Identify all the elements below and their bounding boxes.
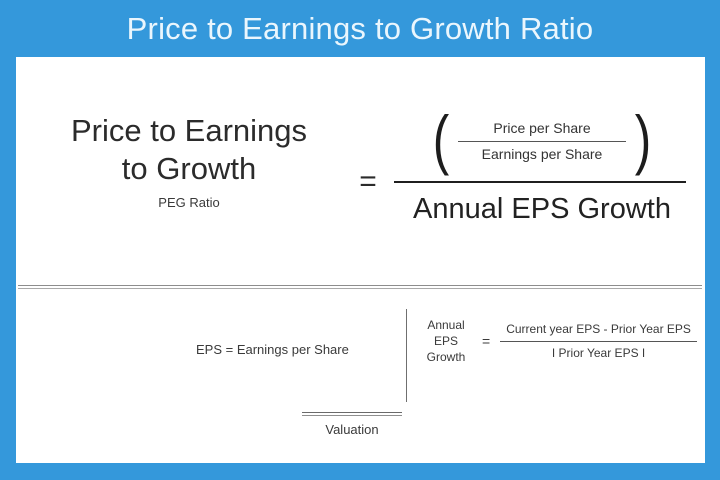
- outer-numerator: ( Price per Share Earnings per Share ): [394, 101, 690, 181]
- inner-numerator-text: Price per Share: [483, 120, 600, 136]
- valuation-block: Valuation: [302, 412, 402, 438]
- growth-definition: Annual EPS Growth = Current year EPS - P…: [420, 317, 697, 365]
- page-title: Price to Earnings to Growth Ratio: [127, 13, 594, 44]
- outer-denominator-text: Annual EPS Growth: [394, 183, 690, 226]
- growth-label-line3: Growth: [420, 349, 472, 365]
- formula-left-line2: to Growth: [44, 150, 334, 188]
- infographic-canvas: Price to Earnings to Growth Ratio Price …: [0, 0, 720, 480]
- inner-fraction: Price per Share Earnings per Share: [458, 119, 626, 164]
- open-paren-glyph: (: [433, 106, 449, 172]
- definitions-section: EPS = Earnings per Share Annual EPS Grow…: [16, 297, 705, 402]
- growth-fraction-bar: [500, 341, 697, 342]
- growth-denominator-text: I Prior Year EPS I: [500, 345, 697, 362]
- inner-denominator-text: Earnings per Share: [472, 146, 613, 162]
- formula-left-label: Price to Earnings to Growth PEG Ratio: [44, 112, 334, 210]
- valuation-label: Valuation: [302, 416, 402, 438]
- growth-fraction: Current year EPS - Prior Year EPS I Prio…: [500, 321, 697, 362]
- inner-fraction-bar: [458, 141, 626, 142]
- growth-label: Annual EPS Growth: [420, 317, 472, 365]
- main-formula: Price to Earnings to Growth PEG Ratio = …: [16, 57, 705, 282]
- growth-numerator-text: Current year EPS - Prior Year EPS: [500, 321, 697, 338]
- growth-label-line1: Annual: [420, 317, 472, 333]
- peg-ratio-subtitle: PEG Ratio: [44, 195, 334, 210]
- close-paren-glyph: ): [635, 106, 651, 172]
- section-divider: [18, 285, 702, 290]
- eps-definition: EPS = Earnings per Share: [196, 342, 349, 358]
- divider-rule-top: [18, 285, 702, 286]
- content-panel: Price to Earnings to Growth PEG Ratio = …: [16, 57, 705, 463]
- formula-left-line1: Price to Earnings: [44, 112, 334, 150]
- growth-label-line2: EPS: [420, 333, 472, 349]
- vertical-separator: [406, 309, 407, 402]
- formula-right-fraction: ( Price per Share Earnings per Share ) A…: [394, 101, 690, 226]
- valuation-rule-top: [302, 412, 402, 413]
- main-equals-sign: =: [348, 167, 388, 197]
- title-banner: Price to Earnings to Growth Ratio: [0, 0, 720, 57]
- divider-rule-bottom: [18, 288, 702, 289]
- growth-equals-sign: =: [472, 333, 500, 349]
